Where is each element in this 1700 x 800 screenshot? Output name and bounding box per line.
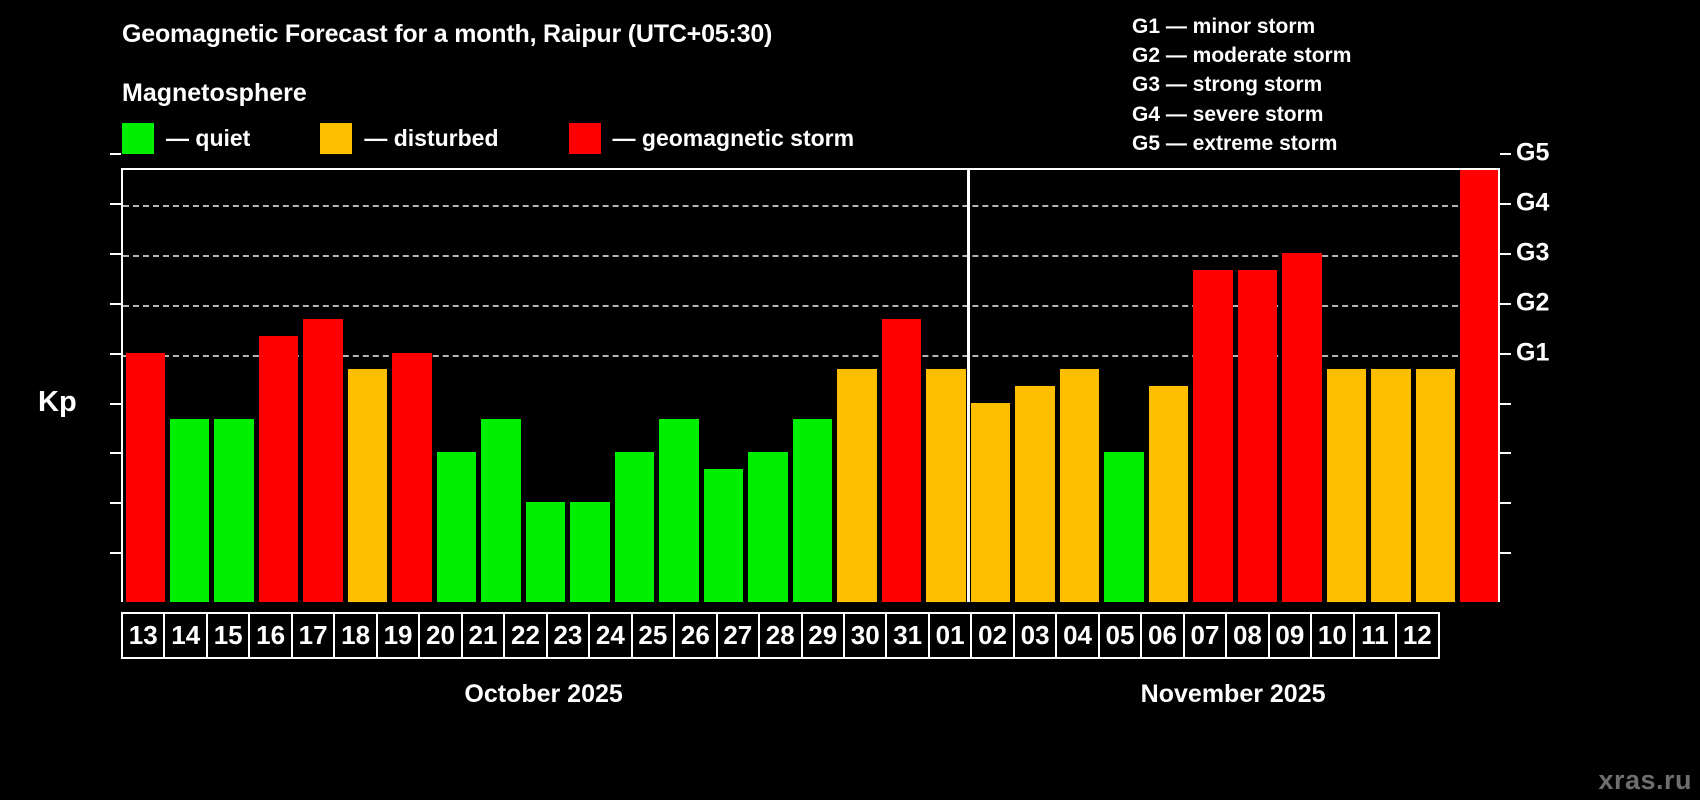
- day-label-november-12: 12: [1395, 612, 1439, 659]
- bars-layer: [123, 170, 1498, 602]
- bar-november-07: [1238, 270, 1277, 602]
- bar-october-26: [704, 469, 743, 602]
- day-label-november-10: 10: [1310, 612, 1354, 659]
- legend-label-storm: — geomagnetic storm: [613, 125, 855, 152]
- day-label-october-17: 17: [291, 612, 335, 659]
- bar-october-23: [570, 502, 609, 602]
- bar-october-15: [214, 419, 253, 602]
- bar-october-27: [748, 452, 787, 602]
- kp-tick-mark-5: [110, 353, 121, 355]
- day-label-november-08: 08: [1225, 612, 1269, 659]
- geomagnetic-forecast-chart: Geomagnetic Forecast for a month, Raipur…: [0, 0, 1700, 800]
- bar-october-19: [392, 353, 431, 602]
- bar-november-12: [1460, 170, 1498, 602]
- day-label-october-29: 29: [801, 612, 845, 659]
- day-label-november-03: 03: [1013, 612, 1057, 659]
- bar-october-20: [437, 452, 476, 602]
- day-label-november-09: 09: [1268, 612, 1312, 659]
- day-label-october-22: 22: [503, 612, 547, 659]
- legend-swatch-disturbed-icon: [320, 123, 352, 154]
- g-scale-line-1: G1 — minor storm: [1132, 12, 1351, 41]
- day-label-november-11: 11: [1353, 612, 1397, 659]
- bar-november-08: [1282, 253, 1321, 602]
- bar-november-04: [1104, 452, 1143, 602]
- bar-november-01: [971, 403, 1010, 602]
- bar-october-16: [259, 336, 298, 602]
- day-label-october-30: 30: [843, 612, 887, 659]
- kp-axis-label: Kp: [38, 386, 77, 419]
- day-label-october-25: 25: [631, 612, 675, 659]
- kp-tick-mark-7: [110, 253, 121, 255]
- kp-tick-mark-3: [110, 452, 121, 454]
- g-scale-legend: G1 — minor stormG2 — moderate stormG3 — …: [1132, 12, 1351, 158]
- page-title: Geomagnetic Forecast for a month, Raipur…: [122, 20, 772, 49]
- legend-swatch-quiet-icon: [122, 123, 154, 154]
- day-label-october-20: 20: [418, 612, 462, 659]
- legend-item-quiet: — quiet: [122, 123, 250, 154]
- g-tick-mark-kp-3: [1500, 452, 1511, 454]
- bar-october-21: [481, 419, 520, 602]
- g-tick-mark-kp-7: [1500, 253, 1511, 255]
- day-label-october-13: 13: [121, 612, 165, 659]
- day-label-october-31: 31: [885, 612, 929, 659]
- kp-tick-mark-8: [110, 203, 121, 205]
- day-label-november-05: 05: [1098, 612, 1142, 659]
- g-tick-mark-kp-5: [1500, 353, 1511, 355]
- g-tick-mark-kp-4: [1500, 403, 1511, 405]
- g-tick-mark-kp-6: [1500, 303, 1511, 305]
- g-scale-line-3: G3 — strong storm: [1132, 70, 1351, 99]
- bar-october-24: [615, 452, 654, 602]
- magnetosphere-legend: — quiet— disturbed— geomagnetic storm: [122, 122, 854, 154]
- day-label-october-23: 23: [546, 612, 590, 659]
- g-tick-label-g1: G1: [1516, 338, 1549, 367]
- kp-tick-mark-4: [110, 403, 121, 405]
- day-label-october-18: 18: [333, 612, 377, 659]
- bar-november-05: [1149, 386, 1188, 602]
- watermark: xras.ru: [1598, 765, 1692, 796]
- day-label-october-27: 27: [716, 612, 760, 659]
- day-label-november-01: 01: [928, 612, 972, 659]
- legend-item-disturbed: — disturbed: [320, 123, 498, 154]
- legend-label-quiet: — quiet: [166, 125, 250, 152]
- day-label-october-14: 14: [163, 612, 207, 659]
- day-label-october-26: 26: [673, 612, 717, 659]
- day-label-row: 1314151617181920212223242526272829303101…: [121, 612, 1440, 659]
- day-label-october-21: 21: [461, 612, 505, 659]
- bar-october-14: [170, 419, 209, 602]
- bar-october-13: [126, 353, 165, 602]
- bar-october-29: [837, 369, 876, 602]
- day-label-october-19: 19: [376, 612, 420, 659]
- g-tick-label-g3: G3: [1516, 239, 1549, 268]
- kp-tick-mark-1: [110, 552, 121, 554]
- bar-october-18: [348, 369, 387, 602]
- g-scale-line-4: G4 — severe storm: [1132, 100, 1351, 129]
- kp-tick-mark-9: [110, 153, 121, 155]
- bar-november-03: [1060, 369, 1099, 602]
- day-label-november-06: 06: [1140, 612, 1184, 659]
- bar-november-06: [1193, 270, 1232, 602]
- legend-item-storm: — geomagnetic storm: [569, 123, 855, 154]
- bar-november-09: [1327, 369, 1366, 602]
- day-label-november-02: 02: [970, 612, 1014, 659]
- month-label-november: November 2025: [1141, 680, 1326, 709]
- bar-october-30: [882, 319, 921, 602]
- bar-november-11: [1416, 369, 1455, 602]
- g-tick-mark-kp-2: [1500, 502, 1511, 504]
- day-label-october-28: 28: [758, 612, 802, 659]
- g-tick-label-g2: G2: [1516, 288, 1549, 317]
- bar-october-22: [526, 502, 565, 602]
- plot-area: [121, 168, 1500, 602]
- g-tick-label-g5: G5: [1516, 139, 1549, 168]
- bar-october-28: [793, 419, 832, 602]
- legend-swatch-storm-icon: [569, 123, 601, 154]
- day-label-november-04: 04: [1055, 612, 1099, 659]
- bar-november-10: [1371, 369, 1410, 602]
- bar-november-02: [1015, 386, 1054, 602]
- g-tick-mark-kp-1: [1500, 552, 1511, 554]
- day-label-october-16: 16: [248, 612, 292, 659]
- plot-inner: [123, 170, 1498, 602]
- day-label-october-15: 15: [206, 612, 250, 659]
- day-label-october-24: 24: [588, 612, 632, 659]
- g-scale-line-5: G5 — extreme storm: [1132, 129, 1351, 158]
- bar-october-17: [303, 319, 342, 602]
- month-label-october: October 2025: [464, 680, 622, 709]
- g-scale-line-2: G2 — moderate storm: [1132, 41, 1351, 70]
- kp-tick-mark-2: [110, 502, 121, 504]
- day-label-november-07: 07: [1183, 612, 1227, 659]
- bar-october-31: [926, 369, 965, 602]
- bar-october-25: [659, 419, 698, 602]
- g-tick-mark-kp-9: [1500, 153, 1511, 155]
- kp-tick-mark-6: [110, 303, 121, 305]
- g-tick-mark-kp-8: [1500, 203, 1511, 205]
- legend-label-disturbed: — disturbed: [364, 125, 498, 152]
- magnetosphere-section-label: Magnetosphere: [122, 79, 307, 108]
- g-tick-label-g4: G4: [1516, 189, 1549, 218]
